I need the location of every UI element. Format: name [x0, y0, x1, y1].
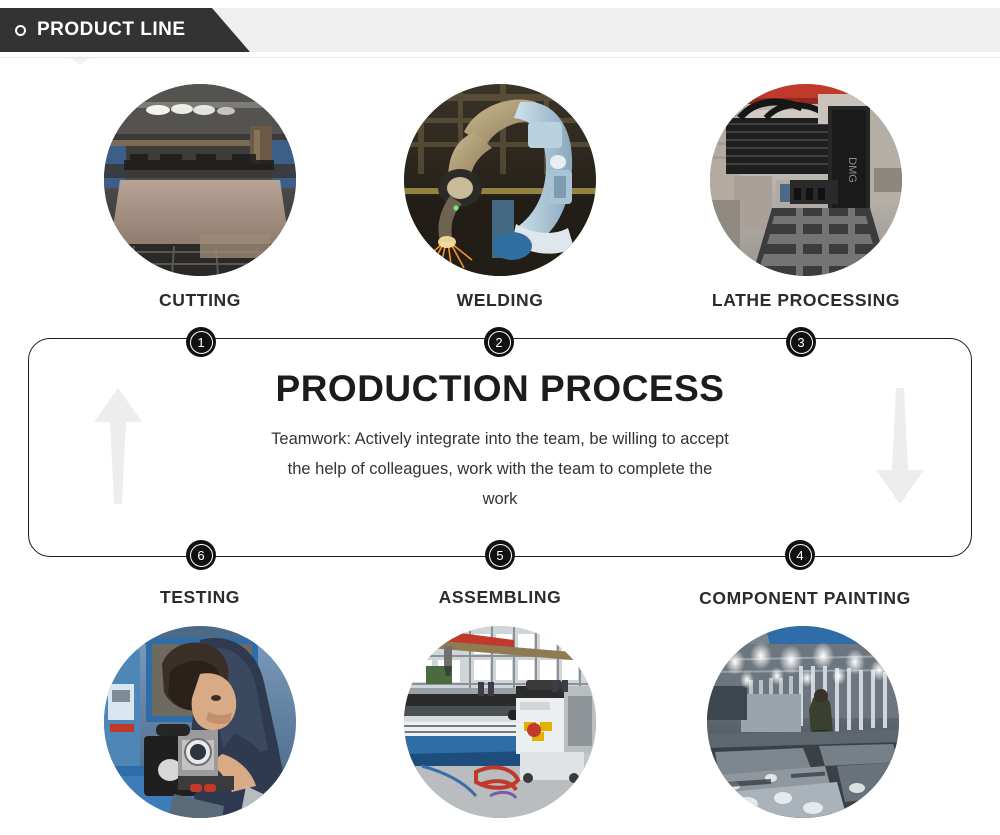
photo-cutting	[104, 84, 296, 276]
page-title: PRODUCT LINE	[37, 19, 186, 41]
caption-cutting: CUTTING	[159, 290, 241, 311]
caption-testing: TESTING	[160, 587, 240, 608]
photo-testing	[104, 626, 296, 818]
step-badge-2-number: 2	[488, 331, 511, 354]
circle-outline-icon	[15, 25, 26, 36]
step-badge-5-number: 5	[489, 544, 512, 567]
step-badge-4: 4	[785, 540, 815, 570]
header-divider	[0, 57, 1000, 58]
step-badge-1: 1	[186, 327, 216, 357]
step-badge-4-number: 4	[789, 544, 812, 567]
step-badge-3: 3	[786, 327, 816, 357]
caption-lathe-processing: LATHE PROCESSING	[712, 290, 900, 311]
step-badge-2: 2	[484, 327, 514, 357]
caption-welding: WELDING	[457, 290, 544, 311]
arrow-up-icon	[92, 386, 144, 511]
process-description: Teamwork: Actively integrate into the te…	[268, 424, 732, 514]
process-title: PRODUCTION PROCESS	[0, 368, 1000, 410]
photo-welding	[404, 84, 596, 276]
step-badge-3-number: 3	[790, 331, 813, 354]
step-badge-5: 5	[485, 540, 515, 570]
step-badge-6: 6	[186, 540, 216, 570]
svg-text:DMG: DMG	[846, 157, 858, 183]
photo-lathe-processing: DMG	[710, 84, 902, 276]
photo-component-painting	[707, 626, 899, 818]
header-notch-icon	[70, 58, 90, 65]
arrow-down-icon	[874, 386, 926, 511]
photo-assembling	[404, 626, 596, 818]
step-badge-6-number: 6	[190, 544, 213, 567]
header-tab: PRODUCT LINE	[0, 8, 250, 52]
step-badge-1-number: 1	[190, 331, 213, 354]
caption-component-painting: COMPONENT PAINTING	[699, 588, 911, 609]
caption-assembling: ASSEMBLING	[439, 587, 562, 608]
